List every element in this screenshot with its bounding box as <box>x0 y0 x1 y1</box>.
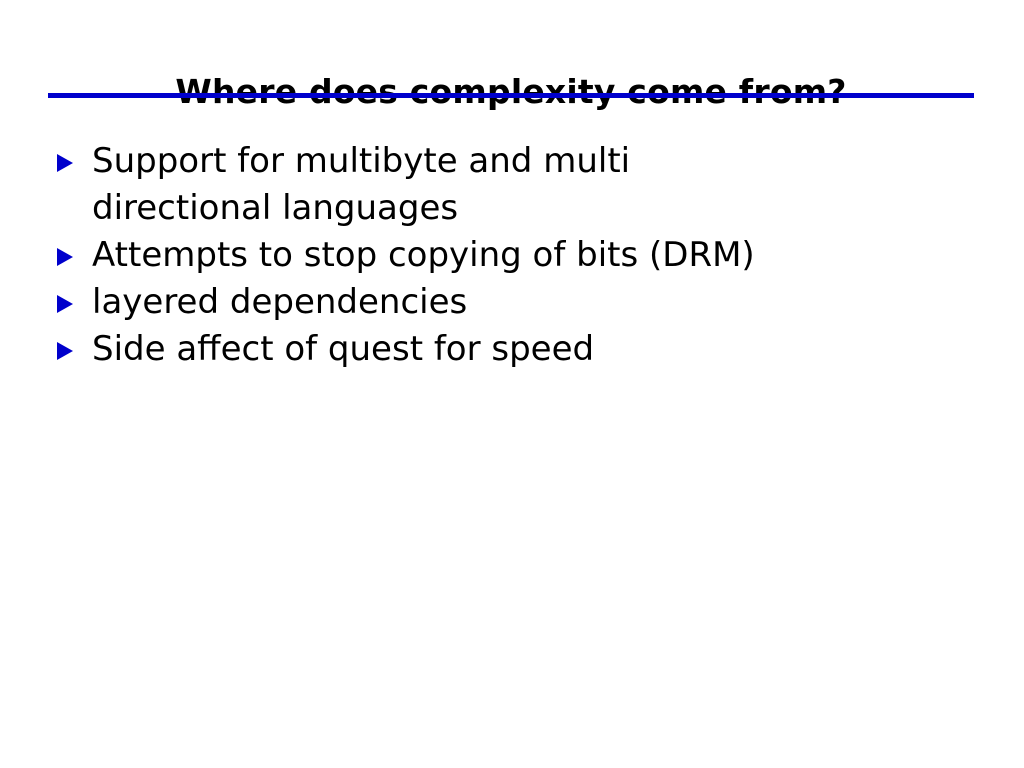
list-item-label: Attempts to stop copying of bits (DRM) <box>92 232 952 279</box>
list-item: Support for multibyte and multi directio… <box>52 138 952 232</box>
list-item: layered dependencies <box>52 279 952 326</box>
title-underline-rule <box>48 93 974 98</box>
triangle-right-icon <box>57 342 73 360</box>
list-item: Attempts to stop copying of bits (DRM) <box>52 232 952 279</box>
list-item: Side affect of quest for speed <box>52 326 952 373</box>
list-item-label: Support for multibyte and multi directio… <box>92 138 737 232</box>
triangle-right-icon <box>57 154 73 172</box>
presentation-slide: Where does complexity come from? Support… <box>0 0 1024 768</box>
triangle-right-icon <box>57 248 73 266</box>
triangle-right-icon <box>57 295 73 313</box>
list-item-label: layered dependencies <box>92 279 952 326</box>
list-item-label: Side affect of quest for speed <box>92 326 952 373</box>
bullet-list: Support for multibyte and multi directio… <box>52 138 952 373</box>
